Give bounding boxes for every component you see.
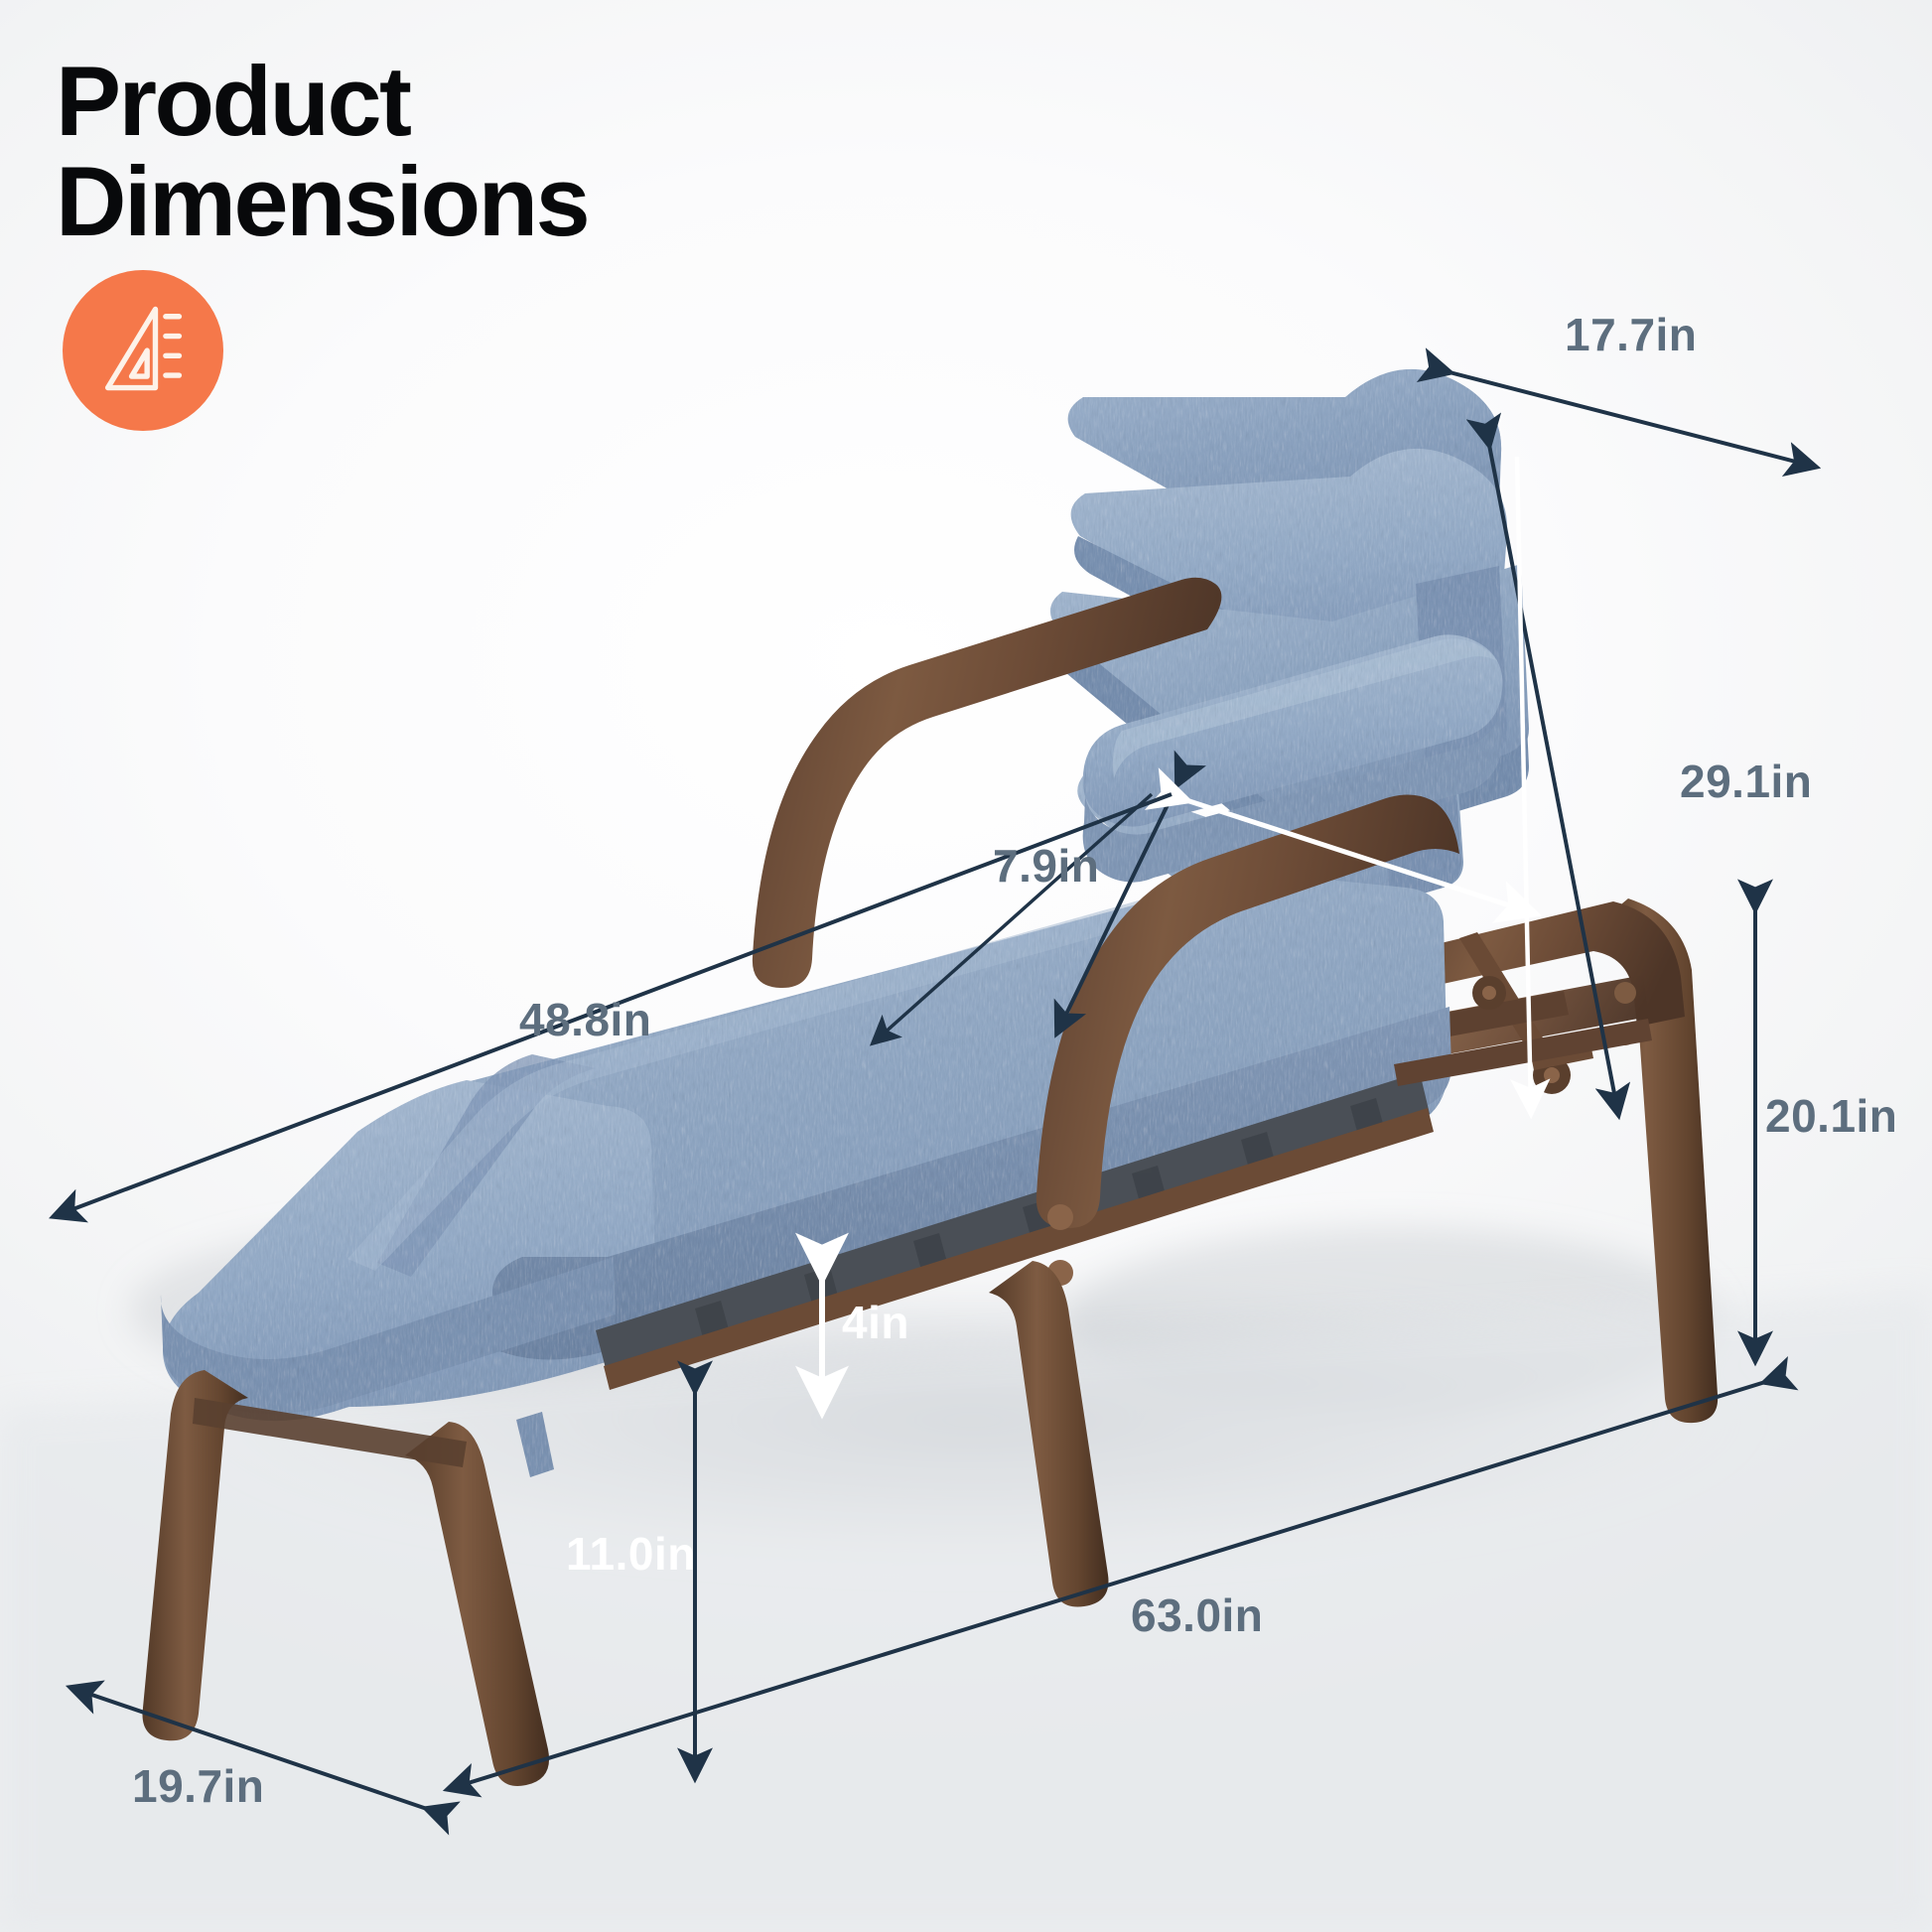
page-title: Product Dimensions xyxy=(56,52,949,252)
ruler-triangle-icon xyxy=(91,297,195,405)
dim-label-seat-height-front: 11.0in xyxy=(566,1527,696,1581)
arrow-backrest-diagonal xyxy=(1517,457,1531,1112)
dim-label-armrest-gap: 7.9in xyxy=(993,839,1099,893)
dim-label-seat-height-rear: 20.1in xyxy=(1765,1089,1897,1143)
arrow-backrest-height xyxy=(1489,445,1618,1114)
dim-label-cushion-length: 48.8in xyxy=(519,993,651,1046)
dim-label-cushion-thickness: 4in xyxy=(842,1296,909,1349)
dimension-arrows xyxy=(0,0,1932,1932)
title-line-1: Product xyxy=(56,52,949,152)
dim-label-headrest-width: 17.7in xyxy=(1565,308,1697,361)
infographic-canvas: Product Dimensions xyxy=(0,0,1932,1932)
arrow-armrest-gap xyxy=(874,784,1177,1042)
arrow-headrest-width xyxy=(1449,372,1815,467)
title-line-2: Dimensions xyxy=(56,152,949,252)
dimensions-badge xyxy=(63,270,223,431)
dim-label-backrest-height: 29.1in xyxy=(1680,755,1812,808)
dim-label-overall-width: 19.7in xyxy=(132,1759,264,1813)
arrow-overall-length xyxy=(449,1382,1765,1789)
arrow-seat-depth xyxy=(1186,800,1534,913)
dim-label-overall-length: 63.0in xyxy=(1131,1588,1263,1642)
